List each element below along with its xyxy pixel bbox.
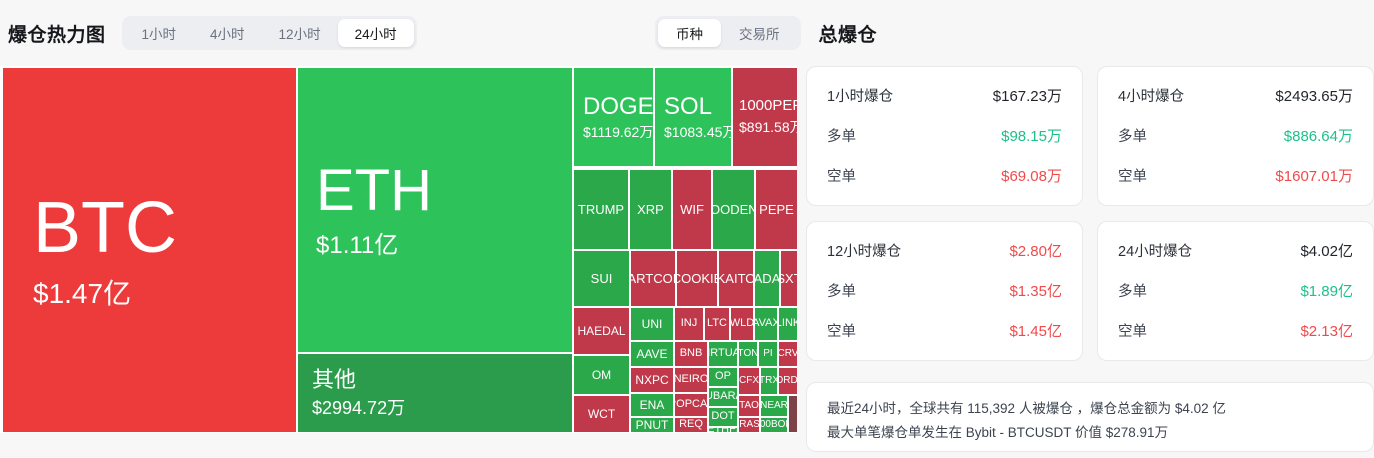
stat-card: 24小时爆仓$4.02亿多单$1.89亿空单$2.13亿 — [1097, 221, 1374, 361]
treemap-tile[interactable]: MOODENG — [712, 169, 755, 250]
panel-tab-1[interactable]: 交易所 — [721, 19, 798, 47]
treemap-tile[interactable]: COOKIE — [676, 250, 718, 307]
card-long-row: 多单$1.35亿 — [827, 280, 1062, 301]
tile-value: $1.11亿 — [316, 233, 398, 259]
treemap-tile[interactable]: LINK — [778, 307, 797, 341]
treemap-tile[interactable]: DOGE$1119.62万 — [573, 67, 654, 167]
treemap-tile[interactable]: TRX — [760, 367, 778, 395]
tile-value: $1119.62万 — [583, 125, 653, 140]
summary-line-1: 最近24小时，全球共有 115,392 人被爆仓 ，爆仓总金额为 $4.02 亿 — [827, 397, 1353, 421]
card-long-value: $886.64万 — [1284, 125, 1353, 146]
tile-symbol: WCT — [588, 408, 615, 421]
timeframe-option-1[interactable]: 4小时 — [193, 19, 262, 47]
tile-symbol: WLD — [730, 318, 754, 330]
card-short-row: 空单$69.08万 — [827, 165, 1062, 186]
tile-symbol: PEPE — [759, 203, 794, 217]
card-long-label: 多单 — [827, 125, 856, 146]
panel-title: 总爆仓 — [819, 20, 878, 47]
tile-symbol: NEIRO — [674, 374, 708, 386]
tile-symbol: 其他 — [312, 368, 356, 391]
summary-box: 最近24小时，全球共有 115,392 人被爆仓 ，爆仓总金额为 $4.02 亿… — [806, 382, 1374, 452]
summary-line-2: 最大单笔爆仓单发生在 Bybit - BTCUSDT 价值 $278.91万 — [827, 421, 1353, 445]
treemap-tile[interactable]: TRUMP — [573, 169, 629, 250]
treemap-tile[interactable]: 1000PEPE$891.58万 — [732, 67, 797, 167]
card-total-label: 24小时爆仓 — [1118, 240, 1192, 261]
treemap-tile[interactable]: CRV — [778, 341, 797, 367]
card-long-label: 多单 — [1118, 125, 1147, 146]
tile-symbol: UNI — [642, 318, 663, 331]
tile-symbol: NXPC — [635, 374, 668, 387]
timeframe-segmented-control[interactable]: 1小时4小时12小时24小时 — [122, 16, 417, 50]
tile-symbol: TRUMP — [578, 203, 624, 217]
timeframe-option-3[interactable]: 24小时 — [338, 19, 414, 47]
treemap-tile[interactable]: ETH$1.11亿 — [297, 67, 573, 353]
treemap-tile[interactable]: PEPE — [755, 169, 797, 250]
tile-symbol: REQ — [679, 419, 703, 431]
card-long-row: 多单$1.89亿 — [1118, 280, 1353, 301]
tile-symbol: FARTCOIN — [630, 272, 676, 286]
treemap-tile[interactable]: ENA — [630, 393, 674, 417]
tile-symbol: SUI — [591, 272, 613, 286]
treemap-tile[interactable]: TAO — [738, 395, 760, 417]
treemap-tile[interactable]: NXPC — [630, 367, 674, 393]
tile-symbol: SOL — [664, 94, 712, 119]
card-total-row: 24小时爆仓$4.02亿 — [1118, 240, 1353, 261]
treemap-tile[interactable]: POPCAT — [674, 393, 708, 417]
tile-value: $891.58万 — [739, 120, 797, 135]
tile-symbol: NEAR — [760, 401, 788, 412]
tile-symbol: ETHFI — [708, 427, 738, 433]
treemap-tile[interactable]: SXT — [780, 250, 797, 307]
tile-symbol: TON — [738, 349, 758, 360]
tile-symbol: TRX — [760, 376, 778, 387]
treemap-tile[interactable]: ETHFI — [708, 427, 738, 433]
tile-symbol: AVAX — [754, 318, 778, 330]
stat-card: 4小时爆仓$2493.65万多单$886.64万空单$1607.01万 — [1097, 66, 1374, 206]
treemap-tile[interactable]: INJ — [674, 307, 704, 341]
treemap-tile[interactable]: UNI — [630, 307, 674, 341]
treemap-tile[interactable]: PNUT — [630, 417, 674, 433]
panel-tab-0[interactable]: 币种 — [658, 19, 721, 47]
card-long-value: $98.15万 — [1001, 125, 1062, 146]
treemap-tile[interactable]: BTC$1.47亿 — [2, 67, 297, 433]
tile-symbol: WIF — [680, 203, 704, 217]
tile-symbol: VIRTUAL — [708, 348, 738, 360]
tile-symbol: ETH — [316, 161, 432, 222]
treemap-tile[interactable]: LTC — [704, 307, 730, 341]
treemap-tile[interactable]: ADA — [754, 250, 780, 307]
treemap-tile[interactable]: HAEDAL — [573, 307, 630, 355]
card-total-label: 4小时爆仓 — [1118, 85, 1184, 106]
tile-symbol: BTC — [33, 191, 177, 267]
treemap-tile[interactable]: KAITO — [718, 250, 754, 307]
tile-symbol: BNB — [680, 348, 703, 360]
treemap-tile[interactable]: NEIRO — [674, 367, 708, 393]
treemap-tile[interactable]: AAVE — [630, 341, 674, 367]
timeframe-option-0[interactable]: 1小时 — [125, 19, 194, 47]
tile-symbol: POPCAT — [674, 399, 708, 411]
tile-symbol: PI — [763, 349, 772, 360]
tile-symbol: INJ — [681, 318, 698, 330]
tile-symbol: DOT — [711, 411, 734, 423]
card-long-row: 多单$886.64万 — [1118, 125, 1353, 146]
treemap-tile[interactable]: 1000BONK — [760, 417, 788, 433]
card-long-row: 多单$98.15万 — [827, 125, 1062, 146]
tile-symbol: CRV — [778, 349, 797, 360]
card-short-label: 空单 — [827, 320, 856, 341]
card-long-value: $1.89亿 — [1300, 280, 1353, 301]
tile-symbol: ENA — [640, 399, 665, 412]
treemap-tile[interactable]: MUBARAK — [708, 387, 738, 407]
liquidation-dashboard: 爆仓热力图 1小时4小时12小时24小时 币种交易所 总爆仓 BTC$1.47亿… — [0, 0, 1374, 458]
tile-symbol: SXT — [780, 272, 797, 286]
tile-symbol: CFX — [739, 376, 759, 387]
tile-symbol: 1000PEPE — [739, 98, 797, 114]
tile-symbol: LINK — [778, 318, 797, 330]
card-long-value: $1.35亿 — [1009, 280, 1062, 301]
tile-symbol: GRASS — [738, 420, 760, 431]
tile-symbol: AAVE — [636, 348, 667, 361]
tile-symbol: MUBARAK — [708, 391, 738, 403]
treemap-tile[interactable] — [788, 395, 797, 433]
card-short-value: $69.08万 — [1001, 165, 1062, 186]
card-short-label: 空单 — [1118, 320, 1147, 341]
tile-symbol: ADA — [754, 272, 780, 286]
treemap-tile[interactable]: SUI — [573, 250, 630, 307]
card-short-row: 空单$1.45亿 — [827, 320, 1062, 341]
treemap-tile[interactable]: OP — [708, 367, 738, 387]
treemap-tile[interactable]: VIRTUAL — [708, 341, 738, 367]
card-total-row: 1小时爆仓$167.23万 — [827, 85, 1062, 106]
card-short-row: 空单$2.13亿 — [1118, 320, 1353, 341]
treemap-tile[interactable]: WCT — [573, 395, 630, 433]
treemap-tile[interactable]: AVAX — [754, 307, 778, 341]
card-short-row: 空单$1607.01万 — [1118, 165, 1353, 186]
panel-tabs[interactable]: 币种交易所 — [655, 16, 801, 50]
card-total-row: 4小时爆仓$2493.65万 — [1118, 85, 1353, 106]
treemap-tile[interactable]: PI — [758, 341, 778, 367]
treemap-tile[interactable]: NEAR — [760, 395, 788, 417]
tile-symbol: ORDI — [778, 376, 797, 387]
page-title: 爆仓热力图 — [8, 20, 106, 47]
treemap-tile[interactable]: FARTCOIN — [630, 250, 676, 307]
panel-header: 币种交易所 总爆仓 — [655, 0, 1374, 66]
card-total-value: $2493.65万 — [1275, 85, 1353, 106]
card-total-label: 12小时爆仓 — [827, 240, 901, 261]
stat-card: 1小时爆仓$167.23万多单$98.15万空单$69.08万 — [806, 66, 1083, 206]
treemap-tile[interactable]: XRP — [629, 169, 672, 250]
card-short-label: 空单 — [827, 165, 856, 186]
liquidation-treemap[interactable]: BTC$1.47亿ETH$1.11亿其他$2994.72万DOGE$1119.6… — [0, 66, 797, 433]
card-total-label: 1小时爆仓 — [827, 85, 893, 106]
tile-symbol: LTC — [707, 318, 727, 330]
tile-symbol: KAITO — [718, 272, 754, 286]
tile-symbol: HAEDAL — [577, 325, 625, 338]
treemap-tile[interactable]: WLD — [730, 307, 754, 341]
card-long-label: 多单 — [827, 280, 856, 301]
treemap-tile[interactable]: BNB — [674, 341, 708, 367]
timeframe-option-2[interactable]: 12小时 — [262, 19, 338, 47]
treemap-tile[interactable]: ORDI — [778, 367, 797, 395]
treemap-tile[interactable]: OM — [573, 355, 630, 395]
tile-symbol: OM — [592, 369, 611, 382]
card-short-label: 空单 — [1118, 165, 1147, 186]
tile-symbol: MOODENG — [712, 203, 755, 217]
tile-value: $1083.45万 — [664, 125, 732, 140]
tile-symbol: PNUT — [636, 419, 669, 432]
tile-symbol: 1000BONK — [760, 420, 788, 431]
stat-card: 12小时爆仓$2.80亿多单$1.35亿空单$1.45亿 — [806, 221, 1083, 361]
card-total-row: 12小时爆仓$2.80亿 — [827, 240, 1062, 261]
card-short-value: $2.13亿 — [1300, 320, 1353, 341]
tile-symbol: XRP — [637, 203, 664, 217]
tile-symbol: COOKIE — [676, 272, 718, 286]
treemap-tile[interactable]: TON — [738, 341, 758, 367]
card-short-value: $1607.01万 — [1275, 165, 1353, 186]
tile-symbol: DOGE — [583, 94, 654, 119]
card-total-value: $167.23万 — [993, 85, 1062, 106]
tile-symbol: OP — [715, 371, 731, 383]
treemap-tile[interactable]: SOL$1083.45万 — [654, 67, 732, 167]
treemap-tile[interactable]: DOT — [708, 407, 738, 427]
card-total-value: $4.02亿 — [1300, 240, 1353, 261]
tile-value: $1.47亿 — [33, 279, 131, 310]
tile-symbol: TAO — [739, 401, 759, 412]
stat-cards: 1小时爆仓$167.23万多单$98.15万空单$69.08万4小时爆仓$249… — [806, 66, 1374, 371]
card-long-label: 多单 — [1118, 280, 1147, 301]
treemap-tile[interactable]: REQ — [674, 417, 708, 433]
card-short-value: $1.45亿 — [1009, 320, 1062, 341]
treemap-tile[interactable]: CFX — [738, 367, 760, 395]
treemap-tile[interactable]: GRASS — [738, 417, 760, 433]
card-total-value: $2.80亿 — [1009, 240, 1062, 261]
treemap-tile[interactable]: 其他$2994.72万 — [297, 353, 573, 433]
treemap-tile[interactable]: WIF — [672, 169, 712, 250]
tile-value: $2994.72万 — [312, 399, 405, 419]
